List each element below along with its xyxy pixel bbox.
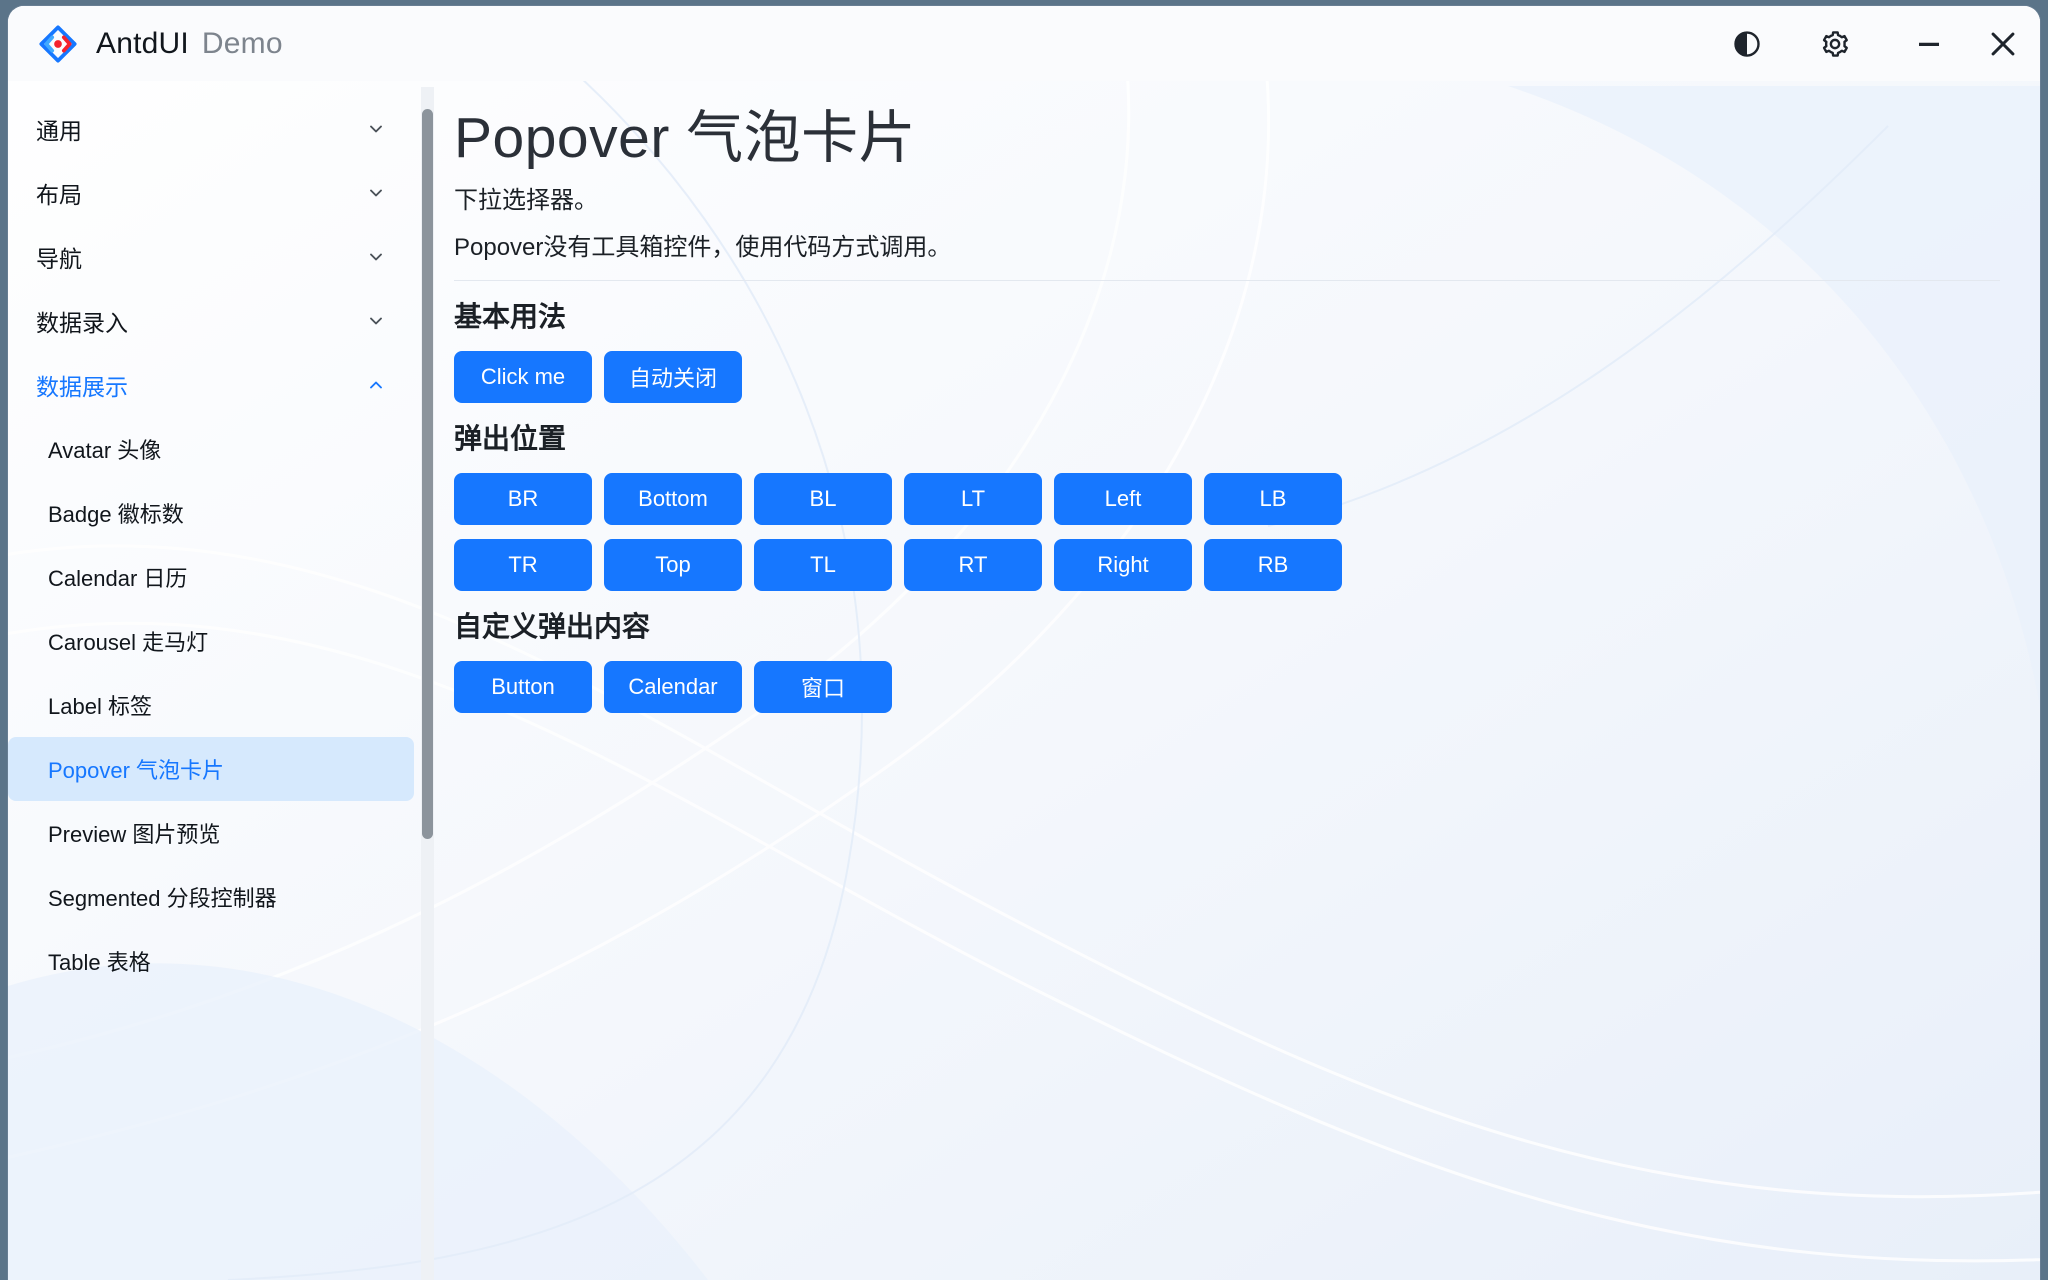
section-heading-custom-content: 自定义弹出内容: [454, 605, 2000, 645]
click-me-button[interactable]: Click me: [454, 351, 592, 403]
sidebar-item-label: Label 标签: [48, 689, 152, 721]
sidebar-item-label: Popover 气泡卡片: [48, 753, 224, 785]
sidebar-item-label: Carousel 走马灯: [48, 625, 208, 657]
sidebar-item-label: Badge 徽标数: [48, 497, 184, 529]
custom-calendar-button[interactable]: Calendar: [604, 661, 742, 713]
theme-toggle-button[interactable]: [1710, 13, 1784, 75]
placement-lt-button[interactable]: LT: [904, 473, 1042, 525]
sidebar-item-segmented[interactable]: Segmented 分段控制器: [8, 865, 414, 929]
sidebar-group-general[interactable]: 通用: [8, 97, 414, 161]
sidebar-item-label: Preview 图片预览: [48, 817, 220, 849]
placement-br-button[interactable]: BR: [454, 473, 592, 525]
gear-icon: [1819, 28, 1851, 60]
sidebar-item-popover[interactable]: Popover 气泡卡片: [8, 737, 414, 801]
placement-lb-button[interactable]: LB: [1204, 473, 1342, 525]
page-description-primary: 下拉选择器。: [454, 180, 2000, 215]
app-brand: AntdUIDemo: [8, 24, 283, 64]
sidebar-item-table[interactable]: Table 表格: [8, 929, 414, 993]
sidebar-group-label: 通用: [36, 112, 82, 146]
sidebar-top-spacer: [8, 81, 414, 97]
placement-rb-button[interactable]: RB: [1204, 539, 1342, 591]
placement-bl-button[interactable]: BL: [754, 473, 892, 525]
placement-button-row-2: TR Top TL RT Right RB: [454, 539, 2000, 591]
title-bar: AntdUIDemo: [8, 6, 2040, 81]
sidebar-group-label: 数据展示: [36, 368, 128, 402]
minimize-button[interactable]: [1892, 13, 1966, 75]
window-controls: [1710, 13, 2040, 75]
sidebar-item-avatar[interactable]: Avatar 头像: [8, 417, 414, 481]
sidebar-group-label: 布局: [36, 176, 82, 210]
custom-button-button[interactable]: Button: [454, 661, 592, 713]
close-button[interactable]: [1966, 13, 2040, 75]
section-heading-basic: 基本用法: [454, 295, 2000, 335]
custom-content-button-row: Button Calendar 窗口: [454, 661, 2000, 713]
placement-tr-button[interactable]: TR: [454, 539, 592, 591]
section-heading-placement: 弹出位置: [454, 417, 2000, 457]
sidebar-item-preview[interactable]: Preview 图片预览: [8, 801, 414, 865]
sidebar-group-layout[interactable]: 布局: [8, 161, 414, 225]
minimize-icon: [1914, 29, 1944, 59]
basic-usage-button-row: Click me 自动关闭: [454, 351, 2000, 403]
page-title: Popover 气泡卡片: [454, 103, 2000, 174]
auto-close-button[interactable]: 自动关闭: [604, 351, 742, 403]
custom-window-button[interactable]: 窗口: [754, 661, 892, 713]
sidebar-item-label: Calendar 日历: [48, 561, 187, 593]
chevron-down-icon: [366, 247, 386, 267]
sidebar-item-label: Segmented 分段控制器: [48, 881, 277, 913]
sidebar-group-data-display[interactable]: 数据展示: [8, 353, 414, 417]
settings-button[interactable]: [1798, 13, 1872, 75]
placement-top-button[interactable]: Top: [604, 539, 742, 591]
placement-bottom-button[interactable]: Bottom: [604, 473, 742, 525]
chevron-down-icon: [366, 311, 386, 331]
sidebar-group-label: 导航: [36, 240, 82, 274]
placement-rt-button[interactable]: RT: [904, 539, 1042, 591]
placement-left-button[interactable]: Left: [1054, 473, 1192, 525]
sidebar-scrollbar-thumb[interactable]: [422, 109, 433, 839]
sidebar-nav[interactable]: 通用 布局 导航 数据录入 数据展示 Avatar 头像 Badge 徽标数 C…: [8, 81, 414, 1280]
placement-tl-button[interactable]: TL: [754, 539, 892, 591]
chevron-up-icon: [366, 375, 386, 395]
sidebar-group-label: 数据录入: [36, 304, 128, 338]
page-description-secondary: Popover没有工具箱控件，使用代码方式调用。: [454, 227, 2000, 262]
window-title-main: AntdUI: [96, 27, 189, 60]
sidebar-item-carousel[interactable]: Carousel 走马灯: [8, 609, 414, 673]
sidebar-item-label[interactable]: Label 标签: [8, 673, 414, 737]
main-content: Popover 气泡卡片 下拉选择器。 Popover没有工具箱控件，使用代码方…: [440, 81, 2040, 1280]
chevron-down-icon: [366, 183, 386, 203]
sidebar-group-navigation[interactable]: 导航: [8, 225, 414, 289]
content-divider: [454, 280, 2000, 281]
sidebar-item-label: Table 表格: [48, 945, 151, 977]
placement-button-row-1: BR Bottom BL LT Left LB: [454, 473, 2000, 525]
window-title: AntdUIDemo: [96, 27, 283, 61]
contrast-icon: [1732, 29, 1762, 59]
sidebar-item-badge[interactable]: Badge 徽标数: [8, 481, 414, 545]
sidebar-item-calendar[interactable]: Calendar 日历: [8, 545, 414, 609]
placement-right-button[interactable]: Right: [1054, 539, 1192, 591]
app-window: AntdUIDemo: [8, 6, 2040, 1280]
window-title-sub: Demo: [202, 27, 283, 60]
chevron-down-icon: [366, 119, 386, 139]
antdui-logo-icon: [38, 24, 78, 64]
sidebar-item-label: Avatar 头像: [48, 433, 161, 465]
sidebar-group-data-entry[interactable]: 数据录入: [8, 289, 414, 353]
close-icon: [1986, 27, 2020, 61]
